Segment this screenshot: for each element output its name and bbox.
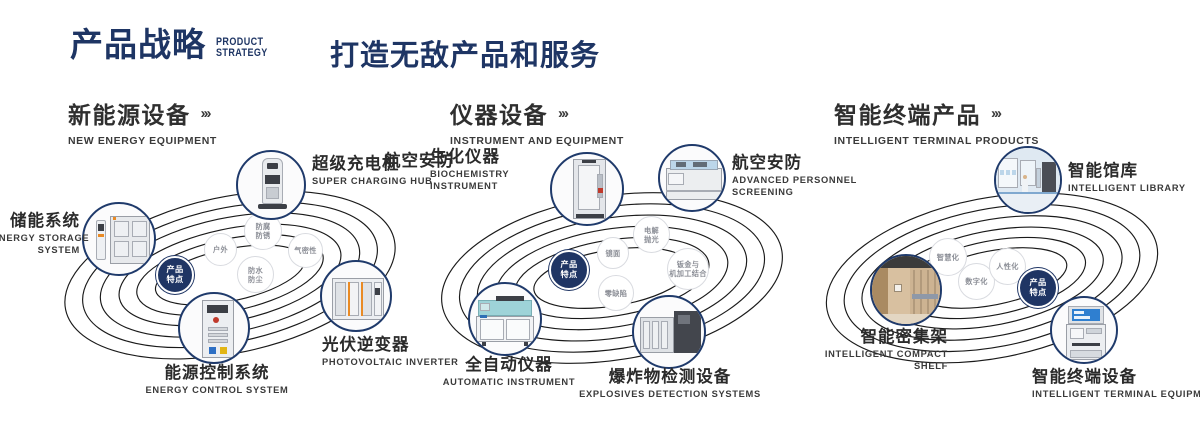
core-bubble-text: 产品特点 (167, 265, 184, 286)
page-title-cn: 产品战略 (70, 28, 206, 61)
feature-bubble-mirror: 镜面 (597, 237, 629, 269)
page-title-en-line2: STRATEGY (216, 48, 268, 59)
node-energy-control-system[interactable] (178, 292, 250, 364)
node-advanced-personnel-screening[interactable] (658, 144, 726, 212)
charging-pile-icon (238, 152, 304, 218)
compact-shelf-icon (872, 256, 940, 324)
core-bubble-product-features: 产品特点 (156, 256, 194, 294)
product-strategy-infographic: 产品战略 PRODUCT STRATEGY 打造无敌产品和服务 新能源设备 ››… (0, 0, 1200, 422)
feature-bubble-zero-defect: 零缺陷 (598, 275, 634, 311)
section-title-en: INSTRUMENT AND EQUIPMENT (450, 135, 624, 147)
screening-machine-icon (660, 146, 724, 210)
node-intelligent-compact-shelf[interactable] (870, 254, 942, 326)
label-en: EXPLOSIVES DETECTION SYSTEMS (570, 389, 770, 401)
chevron-right-icon: ››› (558, 105, 567, 122)
node-intelligent-terminal-equipment[interactable] (1050, 296, 1118, 364)
label-biochemistry-instrument: 生化仪器 BIOCHEMISTRYINSTRUMENT (430, 148, 560, 192)
feature-bubble-airtight: 气密性 (288, 233, 323, 268)
node-explosives-detection-systems[interactable] (632, 295, 706, 369)
section-title-new-energy: 新能源设备 ››› NEW ENERGY EQUIPMENT (68, 96, 217, 147)
label-en: INTELLIGENT LIBRARY (1068, 183, 1200, 195)
label-automatic-instrument: 全自动仪器 AUTOMATIC INSTRUMENT (414, 356, 604, 389)
label-en: ENERGY CONTROL SYSTEM (92, 385, 342, 397)
section-title-cn: 智能终端产品 (834, 96, 981, 130)
section-title-cn: 新能源设备 (68, 96, 191, 130)
section-title-en: INTELLIGENT TERMINAL PRODUCTS (834, 135, 1039, 147)
feature-bubble-electro-polish: 电解抛光 (633, 216, 670, 253)
explosive-detector-icon (634, 297, 704, 367)
node-photovoltaic-inverter[interactable] (320, 260, 392, 332)
chevron-right-icon: ››› (201, 105, 210, 122)
section-title-en: NEW ENERGY EQUIPMENT (68, 135, 217, 147)
label-energy-storage-system: 储能系统 ENERGY STORAGESYSTEM (0, 212, 80, 256)
core-bubble-text: 产品特点 (561, 260, 578, 281)
label-en: AUTOMATIC INSTRUMENT (414, 377, 604, 389)
pv-inverter-icon (322, 262, 390, 330)
control-cabinet-icon (180, 294, 248, 362)
label-en: INTELLIGENT COMPACTSHELF (768, 349, 948, 372)
section-title-intelligent-terminal: 智能终端产品 ››› INTELLIGENT TERMINAL PRODUCTS (834, 96, 1039, 147)
cluster-intelligent-terminal-products: 智慧化 数字化 人性化 产品特点 智能馆库 (806, 150, 1186, 400)
feature-bubble-sheetmetal-machining: 钣金与机加工结合 (667, 248, 709, 290)
node-super-charging-hub[interactable] (236, 150, 306, 220)
section-title-cn: 仪器设备 (450, 96, 548, 130)
core-bubble-text: 产品特点 (1030, 278, 1047, 299)
node-energy-storage-system[interactable] (82, 202, 156, 276)
section-title-instrument: 仪器设备 ››› INSTRUMENT AND EQUIPMENT (450, 96, 624, 147)
battery-cabinet-icon (84, 204, 154, 274)
node-intelligent-library[interactable] (994, 146, 1062, 214)
node-automatic-instrument[interactable] (468, 282, 542, 356)
label-en: BIOCHEMISTRYINSTRUMENT (430, 169, 560, 192)
kiosk-terminal-icon (1052, 298, 1116, 362)
page-subtitle: 打造无敌产品和服务 (330, 32, 600, 74)
cluster-instrument-and-equipment: 产品特点 镜面 电解抛光 零缺陷 钣金与机加工结合 航空安防 生化仪器 BIOC… (422, 150, 802, 400)
page-header: 产品战略 PRODUCT STRATEGY (70, 28, 279, 61)
node-biochemistry-instrument[interactable] (550, 152, 624, 226)
library-room-icon (996, 148, 1060, 212)
label-energy-control-system: 能源控制系统 ENERGY CONTROL SYSTEM (92, 364, 342, 397)
security-scanner-icon (552, 154, 622, 224)
label-en: ENERGY STORAGESYSTEM (0, 233, 80, 256)
core-bubble-product-features: 产品特点 (549, 250, 589, 290)
page-title-en: PRODUCT STRATEGY (216, 37, 268, 59)
label-intelligent-library: 智能馆库 INTELLIGENT LIBRARY (1068, 162, 1200, 195)
feature-bubble-outdoor: 户外 (204, 233, 237, 266)
feature-bubble-waterproof: 防水防尘 (237, 256, 274, 293)
cluster-new-energy-equipment: 产品特点 户外 防腐防锈 防水防尘 气密性 储能系统 ENERGY STORAG… (40, 150, 420, 400)
auto-analyzer-icon (470, 284, 540, 354)
label-intelligent-terminal-equipment: 智能终端设备 INTELLIGENT TERMINAL EQUIPMENT (1032, 368, 1200, 401)
label-en: INTELLIGENT TERMINAL EQUIPMENT (1032, 389, 1200, 401)
label-intelligent-compact-shelf: 智能密集架 INTELLIGENT COMPACTSHELF (768, 328, 948, 372)
chevron-right-icon: ››› (991, 105, 1000, 122)
